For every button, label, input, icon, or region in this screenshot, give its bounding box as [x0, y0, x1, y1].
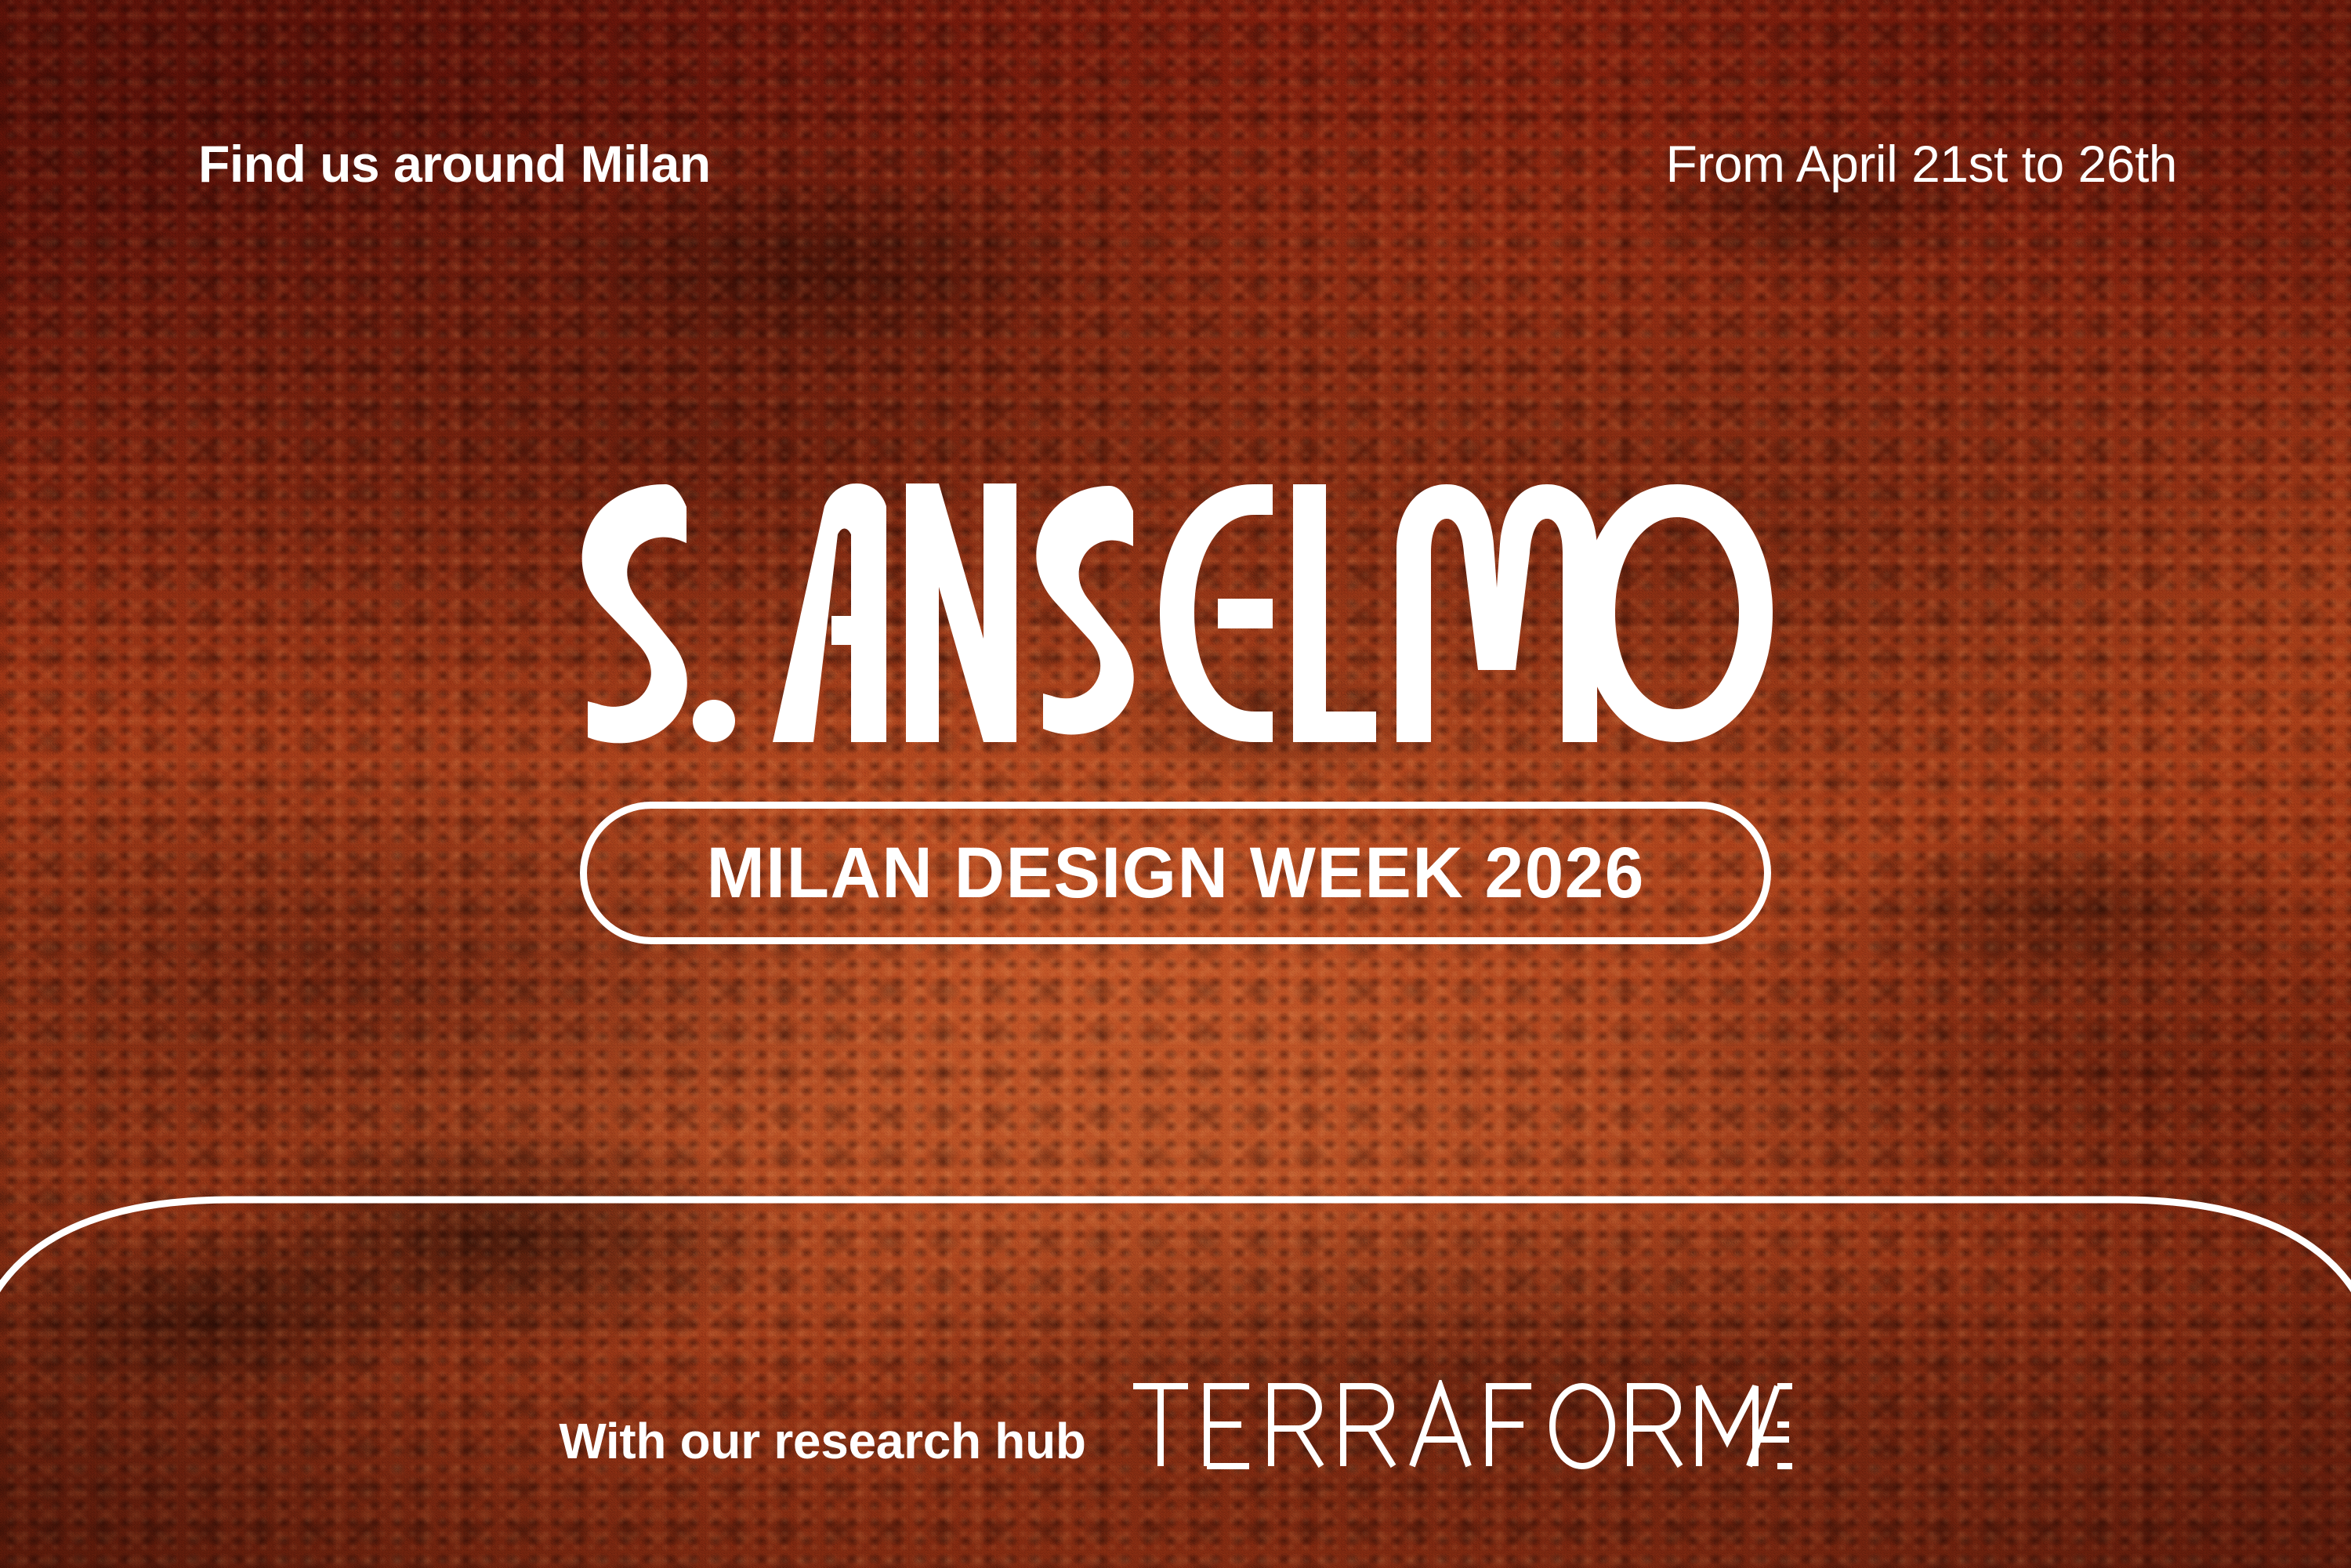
poster-content: Find us around Milan From April 21st to …: [0, 0, 2351, 1568]
sanselmo-wordmark: S.ANSELMO: [571, 478, 1781, 748]
badge-label: MILAN DESIGN WEEK 2026: [706, 837, 1644, 909]
footer-row: With our research hub TERRAFORMÆ: [0, 1367, 2351, 1466]
header-location-text: Find us around Milan: [198, 138, 711, 190]
poster-canvas: Find us around Milan From April 21st to …: [0, 0, 2351, 1568]
brand-lockup: S.ANSELMO: [0, 478, 2351, 944]
header-row: Find us around Milan From April 21st to …: [198, 138, 2177, 190]
milan-design-week-badge[interactable]: MILAN DESIGN WEEK 2026: [580, 802, 1771, 944]
research-hub-label: With our research hub: [559, 1416, 1085, 1466]
header-dates-text: From April 21st to 26th: [1666, 138, 2177, 190]
terraformae-wordmark: TERRAFORMÆ: [1130, 1380, 1792, 1471]
